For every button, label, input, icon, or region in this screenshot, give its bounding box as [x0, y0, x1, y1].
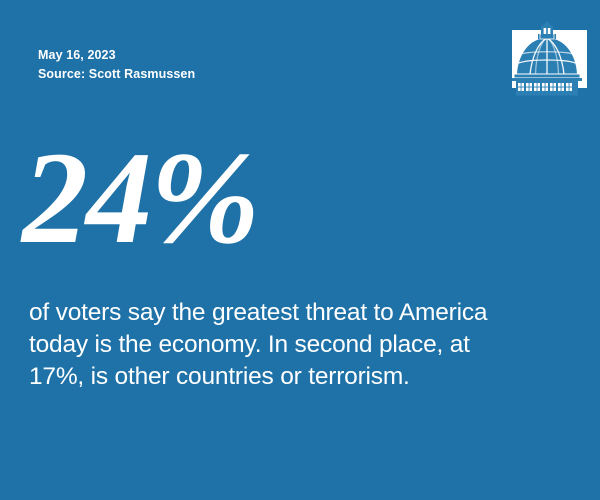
publish-date: May 16, 2023 — [38, 47, 195, 64]
body-copy-line-1: of voters say the greatest threat to Ame… — [29, 297, 549, 329]
source-label: Source: Scott Rasmussen — [38, 66, 195, 83]
headline-stat: 24% — [22, 128, 562, 268]
body-copy-line-3: 17%, is other countries or terrorism. — [29, 361, 549, 393]
infographic-card: May 16, 2023 Source: Scott Rasmussen — [0, 0, 600, 500]
body-copy-line-2: today is the economy. In second place, a… — [29, 329, 549, 361]
body-copy: of voters say the greatest threat to Ame… — [29, 297, 549, 393]
stat-value: 24% — [22, 128, 562, 268]
capitol-dome-icon — [505, 22, 589, 100]
meta-block: May 16, 2023 Source: Scott Rasmussen — [38, 47, 195, 82]
